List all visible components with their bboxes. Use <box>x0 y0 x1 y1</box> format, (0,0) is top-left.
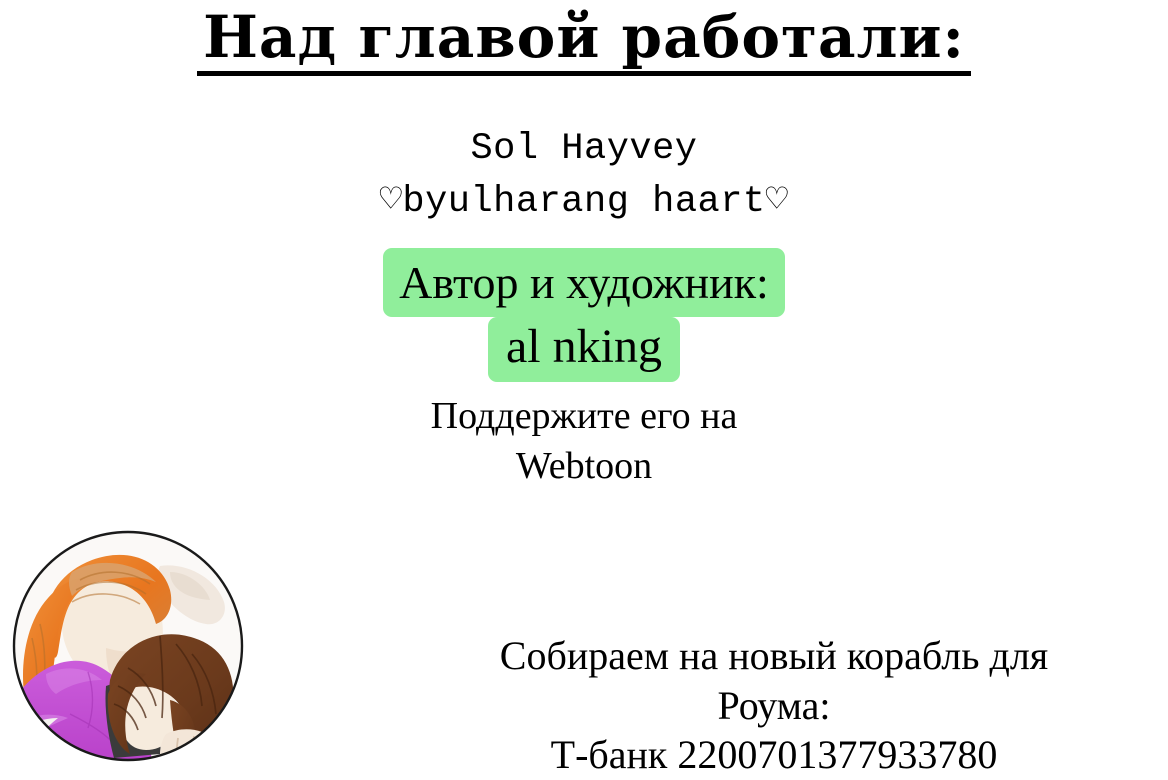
support-line-1: Поддержите его на <box>0 391 1168 441</box>
avatar-illustration-svg <box>10 528 246 764</box>
page-title-container: Над главой работали: <box>0 8 1168 76</box>
hand-shape <box>160 729 231 764</box>
author-block: Автор и художник: al nking <box>0 248 1168 382</box>
credits-page: Над главой работали: Sol Hayvey ♡byulhar… <box>0 0 1168 780</box>
support-block: Поддержите его на Webtoon <box>0 391 1168 491</box>
white-collar <box>10 718 58 758</box>
credits-list: Sol Hayvey ♡byulharang haart♡ <box>0 123 1168 228</box>
support-link-webtoon[interactable]: Webtoon <box>0 441 1168 491</box>
credit-line-translator: Sol Hayvey <box>0 123 1168 176</box>
avatar-artwork <box>10 528 246 764</box>
donation-block: Собираем на новый корабль для Роума: Т-б… <box>380 631 1168 780</box>
donation-line-2: Роума: <box>380 681 1168 731</box>
avatar-illustration <box>10 528 246 764</box>
author-role-label: Автор и художник: <box>383 248 785 317</box>
donation-card-line: Т-банк 2200701377933780 <box>380 730 1168 780</box>
author-role-row: Автор и художник: <box>0 248 1168 317</box>
author-name: al nking <box>488 317 680 382</box>
donation-line-1: Собираем на новый корабль для <box>380 631 1168 681</box>
page-title: Над главой работали: <box>197 8 971 76</box>
credit-line-editor: ♡byulharang haart♡ <box>0 176 1168 229</box>
author-name-row: al nking <box>0 317 1168 382</box>
